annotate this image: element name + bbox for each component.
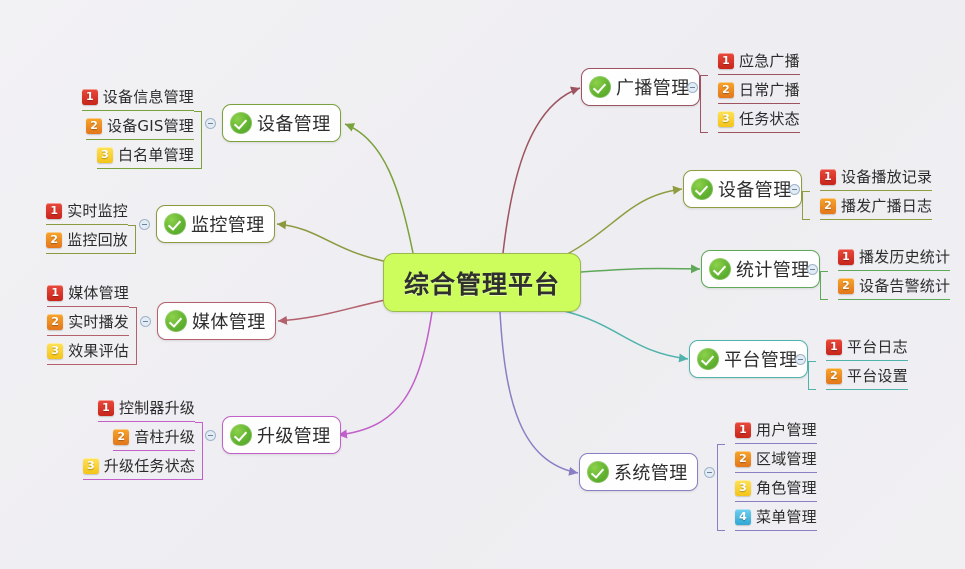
leaf-item[interactable]: 2 播发广播日志 [802,191,932,220]
check-circle-icon [164,213,186,235]
edge-platform-mgmt [560,310,688,359]
leaf-label: 播发广播日志 [841,195,932,216]
root-label: 综合管理平台 [404,265,560,301]
leaf-group-stats-mgmt: 1 播发历史统计 2 设备告警统计 [820,242,950,300]
leaf-label: 菜单管理 [756,506,817,527]
leaf-label: 监控回放 [67,229,128,250]
leaf-index-badge: 2 [113,429,129,445]
check-circle-icon [697,348,719,370]
leaf-index-badge: 2 [826,368,842,384]
leaf-label: 播发历史统计 [859,246,950,267]
check-circle-icon [691,178,713,200]
leaf-index-badge: 4 [735,509,751,525]
leaf-index-badge: 1 [82,89,98,105]
leaf-group-monitor-mgmt: 1 实时监控 2 监控回放 [0,196,136,254]
leaf-label: 设备播放记录 [841,166,932,187]
leaf-item[interactable]: 1 实时监控 [0,196,136,225]
check-circle-icon [587,461,609,483]
leaf-index-badge: 3 [718,111,734,127]
branch-node-device-mgmt-right[interactable]: 设备管理 [683,170,802,208]
leaf-index-badge: 3 [83,458,99,474]
leaf-item[interactable]: 1 设备信息管理 [0,82,202,111]
leaf-item[interactable]: 3 角色管理 [717,473,817,502]
leaf-index-badge: 2 [46,232,62,248]
branch-node-device-mgmt-left[interactable]: 设备管理 [222,104,341,142]
leaf-item[interactable]: 3 效果评估 [0,336,137,365]
collapse-toggle-broadcast-mgmt[interactable] [687,82,698,93]
leaf-item[interactable]: 1 应急广播 [700,46,800,75]
root-node[interactable]: 综合管理平台 [383,253,581,312]
leaf-label: 平台日志 [847,336,908,357]
leaf-item[interactable]: 3 任务状态 [700,104,800,133]
branch-label: 升级管理 [257,422,331,448]
check-circle-icon [709,258,731,280]
branch-node-platform-mgmt[interactable]: 平台管理 [689,340,808,378]
leaf-item[interactable]: 2 音柱升级 [0,422,203,451]
leaf-label: 控制器升级 [119,397,195,418]
leaf-label: 设备信息管理 [103,86,194,107]
leaf-group-system-mgmt: 1 用户管理 2 区域管理 3 角色管理 4 菜单管理 [717,415,817,531]
leaf-label: 音柱升级 [134,426,195,447]
leaf-group-device-mgmt-left: 1 设备信息管理 2 设备GIS管理 3 白名单管理 [0,82,202,169]
leaf-item[interactable]: 3 升级任务状态 [0,451,203,480]
leaf-item[interactable]: 4 菜单管理 [717,502,817,531]
leaf-label: 升级任务状态 [104,455,195,476]
leaf-label: 区域管理 [756,448,817,469]
leaf-group-device-mgmt-right: 1 设备播放记录 2 播发广播日志 [802,162,932,220]
leaf-label: 设备告警统计 [859,275,950,296]
leaf-label: 实时监控 [67,200,128,221]
leaf-index-badge: 2 [735,451,751,467]
leaf-index-badge: 3 [47,343,63,359]
collapse-toggle-device-mgmt-right[interactable] [789,184,800,195]
leaf-item[interactable]: 2 设备告警统计 [820,271,950,300]
collapse-toggle-device-mgmt-left[interactable] [205,118,216,129]
leaf-group-media-mgmt: 1 媒体管理 2 实时播发 3 效果评估 [0,278,137,365]
leaf-label: 设备GIS管理 [107,115,194,136]
leaf-index-badge: 1 [718,53,734,69]
leaf-group-platform-mgmt: 1 平台日志 2 平台设置 [808,332,908,390]
leaf-label: 白名单管理 [118,144,194,165]
leaf-item[interactable]: 2 监控回放 [0,225,136,254]
leaf-index-badge: 1 [46,203,62,219]
leaf-item[interactable]: 1 控制器升级 [0,393,203,422]
branch-label: 广播管理 [616,74,690,100]
leaf-label: 应急广播 [739,50,800,71]
branch-label: 系统管理 [614,459,688,485]
leaf-index-badge: 3 [735,480,751,496]
leaf-index-badge: 1 [838,249,854,265]
edge-stats-mgmt [581,268,700,272]
branch-label: 统计管理 [736,256,810,282]
leaf-item[interactable]: 2 区域管理 [717,444,817,473]
leaf-index-badge: 2 [86,118,102,134]
leaf-item[interactable]: 2 平台设置 [808,361,908,390]
leaf-label: 媒体管理 [68,282,129,303]
branch-node-stats-mgmt[interactable]: 统计管理 [701,250,820,288]
leaf-index-badge: 1 [820,169,836,185]
leaf-label: 日常广播 [739,79,800,100]
leaf-index-badge: 2 [47,314,63,330]
leaf-index-badge: 2 [820,198,836,214]
leaf-item[interactable]: 3 白名单管理 [0,140,202,169]
branch-label: 设备管理 [718,176,792,202]
branch-node-media-mgmt[interactable]: 媒体管理 [157,302,276,340]
leaf-label: 效果评估 [68,340,129,361]
leaf-index-badge: 3 [97,147,113,163]
leaf-label: 平台设置 [847,365,908,386]
edge-upgrade-mgmt [338,312,432,435]
leaf-label: 角色管理 [756,477,817,498]
leaf-label: 任务状态 [739,108,800,129]
leaf-item[interactable]: 1 用户管理 [717,415,817,444]
leaf-index-badge: 1 [98,400,114,416]
edge-monitor-mgmt [277,224,388,262]
leaf-item[interactable]: 2 实时播发 [0,307,137,336]
leaf-item[interactable]: 1 平台日志 [808,332,908,361]
collapse-toggle-stats-mgmt[interactable] [807,264,818,275]
leaf-label: 实时播发 [68,311,129,332]
leaf-item[interactable]: 2 设备GIS管理 [0,111,202,140]
collapse-toggle-monitor-mgmt[interactable] [139,219,150,230]
branch-label: 平台管理 [724,346,798,372]
check-circle-icon [589,76,611,98]
check-circle-icon [230,112,252,134]
check-circle-icon [230,424,252,446]
collapse-toggle-media-mgmt[interactable] [140,316,151,327]
edge-device-mgmt-left [345,124,413,253]
leaf-group-broadcast-mgmt: 1 应急广播 2 日常广播 3 任务状态 [700,46,800,133]
branch-node-system-mgmt[interactable]: 系统管理 [579,453,698,491]
leaf-label: 用户管理 [756,419,817,440]
branch-node-upgrade-mgmt[interactable]: 升级管理 [222,416,341,454]
leaf-index-badge: 1 [826,339,842,355]
leaf-item[interactable]: 1 媒体管理 [0,278,137,307]
mindmap-canvas: 综合管理平台 设备管理 1 设备信息管理 2 设备GIS管理 3 白名单管理 [0,0,965,569]
check-circle-icon [165,310,187,332]
branch-label: 监控管理 [191,211,265,237]
leaf-group-upgrade-mgmt: 1 控制器升级 2 音柱升级 3 升级任务状态 [0,393,203,480]
collapse-toggle-system-mgmt[interactable] [704,467,715,478]
leaf-index-badge: 1 [735,422,751,438]
leaf-item[interactable]: 2 日常广播 [700,75,800,104]
edge-system-mgmt [500,312,578,473]
leaf-index-badge: 2 [838,278,854,294]
branch-node-broadcast-mgmt[interactable]: 广播管理 [581,68,700,106]
leaf-item[interactable]: 1 播发历史统计 [820,242,950,271]
leaf-item[interactable]: 1 设备播放记录 [802,162,932,191]
branch-label: 媒体管理 [192,308,266,334]
collapse-toggle-platform-mgmt[interactable] [795,354,806,365]
branch-label: 设备管理 [257,110,331,136]
leaf-index-badge: 2 [718,82,734,98]
leaf-index-badge: 1 [47,285,63,301]
edge-broadcast-mgmt [503,88,580,253]
collapse-toggle-upgrade-mgmt[interactable] [205,430,216,441]
edge-media-mgmt [278,300,385,321]
branch-node-monitor-mgmt[interactable]: 监控管理 [156,205,275,243]
edge-device-mgmt-right [560,189,682,258]
